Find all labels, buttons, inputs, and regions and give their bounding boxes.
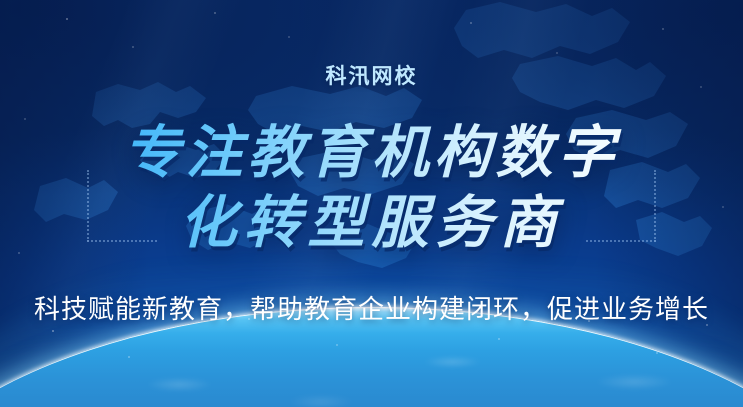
promotional-banner: 科汛网校 专注教育机构数字 化转型服务商 科技赋能新教育，帮助教育企业构建闭环，… bbox=[0, 0, 743, 407]
brand-name: 科汛网校 bbox=[0, 60, 743, 90]
banner-content: 科汛网校 专注教育机构数字 化转型服务商 科技赋能新教育，帮助教育企业构建闭环，… bbox=[0, 0, 743, 407]
headline-line-1: 专注教育机构数字 bbox=[0, 118, 743, 188]
subtitle-text: 科技赋能新教育，帮助教育企业构建闭环，促进业务增长 bbox=[0, 289, 743, 326]
headline-block: 专注教育机构数字 化转型服务商 bbox=[0, 118, 743, 258]
headline-line-2: 化转型服务商 bbox=[0, 188, 743, 258]
